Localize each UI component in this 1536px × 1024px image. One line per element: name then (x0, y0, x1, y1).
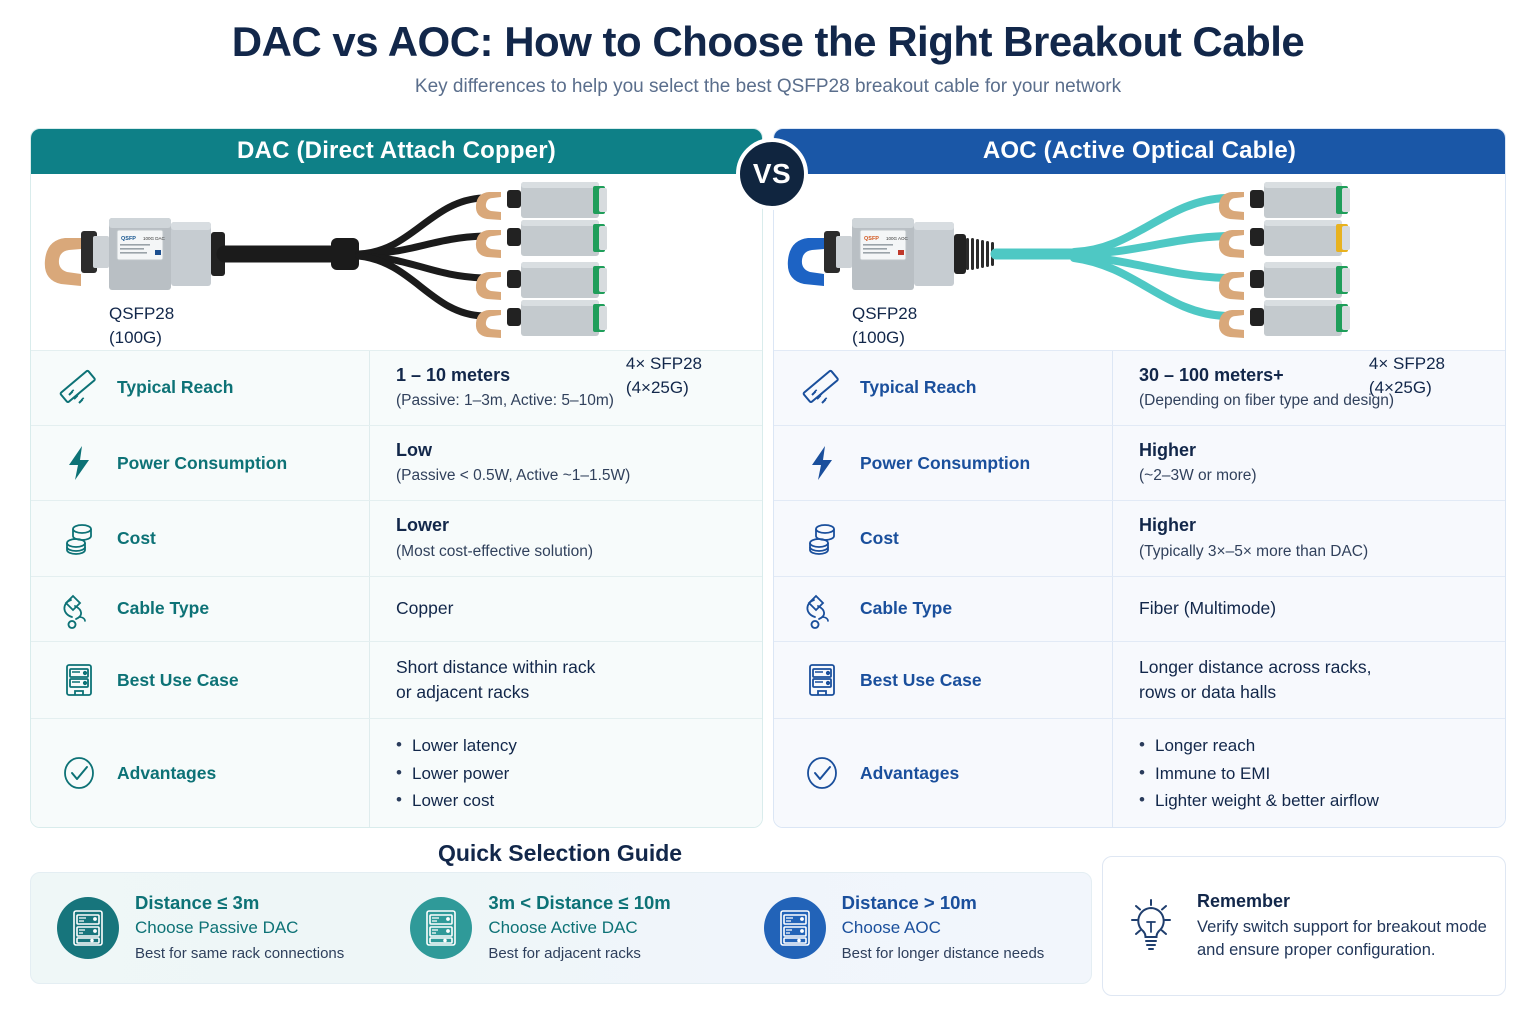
dac-row-value-power-consumption: Low (Passive < 0.5W, Active ~1–1.5W) (369, 426, 762, 500)
dac-advantages-list: Lower latency Lower power Lower cost (396, 732, 744, 814)
table-row: Cable Type Copper (31, 576, 762, 641)
page-subtitle: Key differences to help you select the b… (0, 76, 1536, 98)
remember-text: Remember Verify switch support for break… (1197, 891, 1487, 961)
aoc-cable-diagram: QSFP 100G AOC (774, 174, 1505, 350)
aoc-row-value-cable-type: Fiber (Multimode) (1112, 577, 1505, 641)
dac-spec-rows: Typical Reach 1 – 10 meters (Passive: 1–… (31, 350, 762, 827)
dac-row-label-best-use-case: Best Use Case (31, 642, 369, 719)
aoc-row-label-text: Best Use Case (860, 670, 982, 691)
table-row: Power Consumption Low (Passive < 0.5W, A… (31, 425, 762, 500)
guide-item-aoc[interactable]: Distance > 10m Choose AOC Best for longe… (738, 891, 1091, 965)
guide-circle-1 (57, 897, 119, 959)
aoc-spec-rows: Typical Reach 30 – 100 meters+ (Dependin… (774, 350, 1505, 827)
aoc-row-label-cable-type: Cable Type (774, 577, 1112, 641)
qsfp28-module-dac: QSFP 100G DAC (45, 218, 225, 290)
aoc-sfp-label-line1: 4× SFP28 (1369, 352, 1445, 377)
svg-text:100G DAC: 100G DAC (143, 236, 166, 241)
table-row: Best Use Case Longer distance across rac… (774, 641, 1505, 719)
table-row: Advantages Lower latency Lower power Low… (31, 718, 762, 827)
dac-row-label-text: Cable Type (117, 598, 209, 619)
guide-text-3: Distance > 10m Choose AOC Best for longe… (842, 891, 1045, 965)
dac-row-label-text: Cost (117, 528, 156, 549)
dac-row-label-text: Power Consumption (117, 453, 287, 474)
aoc-row-label-text: Cost (860, 528, 899, 549)
value-sub: (Typically 3×–5× more than DAC) (1139, 542, 1487, 563)
value-main: Lower (396, 514, 744, 537)
list-item: Lower power (396, 760, 744, 787)
coins-icon (802, 519, 842, 559)
value-sub: rows or data halls (1139, 680, 1487, 705)
value-sub: (Passive < 0.5W, Active ~1–1.5W) (396, 466, 744, 487)
remember-card: Remember Verify switch support for break… (1102, 856, 1506, 996)
guide-item-passive-dac[interactable]: Distance ≤ 3m Choose Passive DAC Best fo… (31, 891, 384, 965)
dac-row-value-best-use-case: Short distance within rack or adjacent r… (369, 642, 762, 719)
dac-sfp-label-line2: (4×25G) (626, 376, 702, 401)
dac-row-value-cable-type: Copper (369, 577, 762, 641)
svg-text:QSFP: QSFP (121, 236, 136, 242)
remember-title: Remember (1197, 891, 1487, 912)
guide-subtitle: Choose Active DAC (488, 916, 670, 941)
panel-dac: DAC (Direct Attach Copper) QSFP 100G DAC (30, 128, 763, 828)
value-main: Short distance within rack (396, 655, 744, 680)
aoc-row-label-power-consumption: Power Consumption (774, 426, 1112, 500)
guide-subtitle: Choose Passive DAC (135, 916, 344, 941)
aoc-row-value-power-consumption: Higher (~2–3W or more) (1112, 426, 1505, 500)
guide-title: 3m < Distance ≤ 10m (488, 891, 670, 914)
guide-note: Best for same rack connections (135, 943, 344, 965)
value-sub: (Most cost-effective solution) (396, 542, 744, 563)
server-icon (59, 660, 99, 700)
aoc-sfp-label: 4× SFP28 (4×25G) (1369, 352, 1445, 401)
rack-icon (71, 909, 105, 947)
rack-icon (778, 909, 812, 947)
guide-note: Best for adjacent racks (488, 943, 670, 965)
dac-cable-diagram: QSFP 100G DAC (31, 174, 762, 350)
remember-body: Verify switch support for breakout mode … (1197, 916, 1487, 961)
guide-circle-3 (764, 897, 826, 959)
aoc-row-label-text: Cable Type (860, 598, 952, 619)
table-row: Cable Type Fiber (Multimode) (774, 576, 1505, 641)
table-row: Advantages Longer reach Immune to EMI Li… (774, 718, 1505, 827)
quick-guide-bar: Distance ≤ 3m Choose Passive DAC Best fo… (30, 872, 1092, 984)
dac-row-value-advantages: Lower latency Lower power Lower cost (369, 719, 762, 827)
value-main: Copper (396, 596, 744, 621)
dac-row-value-cost: Lower (Most cost-effective solution) (369, 501, 762, 575)
guide-title: Distance ≤ 3m (135, 891, 344, 914)
guide-subtitle: Choose AOC (842, 916, 1045, 941)
dac-row-label-text: Best Use Case (117, 670, 239, 691)
sfp28-modules-dac (476, 182, 607, 338)
list-item: Longer reach (1139, 732, 1487, 759)
aoc-sfp-label-line2: (4×25G) (1369, 376, 1445, 401)
qsfp28-module-aoc: QSFP 100G AOC (788, 218, 994, 290)
panel-aoc-heading: AOC (Active Optical Cable) (774, 129, 1505, 174)
value-sub: or adjacent racks (396, 680, 744, 705)
aoc-qsfp-label: QSFP28 (100G) (852, 302, 917, 351)
guide-note: Best for longer distance needs (842, 943, 1045, 965)
lightbulb-icon (1119, 894, 1183, 958)
guide-title: Distance > 10m (842, 891, 1045, 914)
check-circle-icon (802, 753, 842, 793)
bolt-icon (802, 443, 842, 483)
aoc-row-label-best-use-case: Best Use Case (774, 642, 1112, 719)
bolt-icon (59, 443, 99, 483)
table-row: Best Use Case Short distance within rack… (31, 641, 762, 719)
dac-sfp-label-line1: 4× SFP28 (626, 352, 702, 377)
check-circle-icon (59, 753, 99, 793)
guide-text-2: 3m < Distance ≤ 10m Choose Active DAC Be… (488, 891, 670, 965)
dac-qsfp-label-line1: QSFP28 (109, 302, 174, 327)
comparison-section: DAC (Direct Attach Copper) QSFP 100G DAC (30, 128, 1506, 828)
dac-row-label-cable-type: Cable Type (31, 577, 369, 641)
quick-guide-title: Quick Selection Guide (30, 840, 1090, 867)
guide-text-1: Distance ≤ 3m Choose Passive DAC Best fo… (135, 891, 344, 965)
guide-circle-2 (410, 897, 472, 959)
dac-qsfp-label: QSFP28 (100G) (109, 302, 174, 351)
dac-row-label-cost: Cost (31, 501, 369, 575)
list-item: Immune to EMI (1139, 760, 1487, 787)
aoc-row-label-text: Power Consumption (860, 453, 1030, 474)
value-sub: (~2–3W or more) (1139, 466, 1487, 487)
table-row: Power Consumption Higher (~2–3W or more) (774, 425, 1505, 500)
value-main: Longer distance across racks, (1139, 655, 1487, 680)
rack-icon (424, 909, 458, 947)
table-row: Cost Lower (Most cost-effective solution… (31, 500, 762, 575)
value-main: Fiber (Multimode) (1139, 596, 1487, 621)
panel-aoc: AOC (Active Optical Cable) QSFP 100G AOC (773, 128, 1506, 828)
aoc-row-label-advantages: Advantages (774, 719, 1112, 827)
vs-badge: VS (736, 138, 808, 210)
list-item: Lighter weight & better airflow (1139, 787, 1487, 814)
aoc-row-label-text: Advantages (860, 763, 959, 784)
dac-row-label-power-consumption: Power Consumption (31, 426, 369, 500)
dac-qsfp-label-line2: (100G) (109, 326, 174, 351)
coins-icon (59, 519, 99, 559)
server-icon (802, 660, 842, 700)
dac-row-label-advantages: Advantages (31, 719, 369, 827)
aoc-qsfp-label-line2: (100G) (852, 326, 917, 351)
value-main: Higher (1139, 514, 1487, 537)
table-row: Cost Higher (Typically 3×–5× more than D… (774, 500, 1505, 575)
value-main: Higher (1139, 439, 1487, 462)
dac-row-label-text: Advantages (117, 763, 216, 784)
list-item: Lower latency (396, 732, 744, 759)
svg-text:QSFP: QSFP (864, 236, 879, 242)
cable-icon (802, 589, 842, 629)
value-main: Low (396, 439, 744, 462)
list-item: Lower cost (396, 787, 744, 814)
dac-sfp-label: 4× SFP28 (4×25G) (626, 352, 702, 401)
aoc-advantages-list: Longer reach Immune to EMI Lighter weigh… (1139, 732, 1487, 814)
aoc-row-value-advantages: Longer reach Immune to EMI Lighter weigh… (1112, 719, 1505, 827)
aoc-row-value-cost: Higher (Typically 3×–5× more than DAC) (1112, 501, 1505, 575)
cable-icon (59, 589, 99, 629)
aoc-row-value-best-use-case: Longer distance across racks, rows or da… (1112, 642, 1505, 719)
svg-text:100G AOC: 100G AOC (886, 236, 909, 241)
aoc-qsfp-label-line1: QSFP28 (852, 302, 917, 327)
panel-dac-heading: DAC (Direct Attach Copper) (31, 129, 762, 174)
sfp28-modules-aoc (1219, 182, 1350, 338)
guide-item-active-dac[interactable]: 3m < Distance ≤ 10m Choose Active DAC Be… (384, 891, 737, 965)
page-title: DAC vs AOC: How to Choose the Right Brea… (0, 0, 1536, 66)
aoc-row-label-cost: Cost (774, 501, 1112, 575)
